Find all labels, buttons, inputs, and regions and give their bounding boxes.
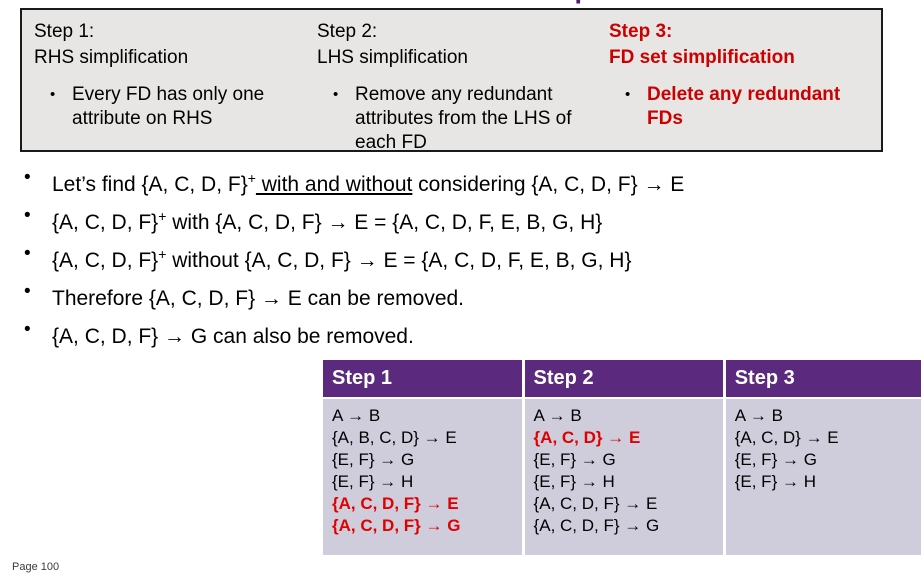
table-header-row: Step 1 Step 2 Step 3 (323, 360, 921, 397)
fd-steps-table: Step 1 Step 2 Step 3 A → B {A, B, C, D} … (320, 358, 924, 557)
fd-line-highlighted: {A, C, D, F} → G (332, 515, 522, 537)
bullet-3-post: without {A, C, D, F} → E = {A, C, D, F, … (166, 249, 631, 272)
step-3-heading-line1: Step 3: (609, 19, 879, 45)
step-1-bullet-text: Every FD has only one attribute on RHS (72, 83, 322, 131)
bullet-1-post: considering {A, C, D, F} → E (412, 173, 684, 196)
bullet-dot-icon: • (333, 83, 355, 155)
bullet-1-sup: + (248, 170, 256, 186)
page-number: Page 100 (12, 561, 59, 573)
bullet-2-text: {A, C, D, F}+ with {A, C, D, F} → E = {A… (52, 201, 602, 238)
fd-line: {A, C, D} → E (735, 427, 921, 449)
list-item: • Let’s find {A, C, D, F}+ with and with… (20, 163, 920, 201)
fd-line-highlighted: {A, C, D} → E (534, 427, 723, 449)
steps-column-1: Step 1: RHS simplification • Every FD ha… (34, 19, 322, 131)
fd-line: A → B (534, 405, 723, 427)
bullet-1-pre: Let’s find {A, C, D, F} (52, 173, 248, 196)
bullet-2-post: with {A, C, D, F} → E = {A, C, D, F, E, … (166, 211, 602, 234)
fd-line: {E, F} → H (534, 471, 723, 493)
fd-line: {A, C, D, F} → G (534, 515, 723, 537)
table-cell-step-3: A → B {A, C, D} → E {E, F} → G {E, F} → … (726, 399, 921, 555)
bullet-1-text: Let’s find {A, C, D, F}+ with and withou… (52, 163, 684, 200)
fd-line: {E, F} → H (332, 471, 522, 493)
step-2-bullet: • Remove any redundant attributes from t… (317, 83, 605, 155)
bullet-dot-icon: • (20, 239, 52, 269)
table-header-step-3: Step 3 (726, 360, 921, 397)
bullet-3-pre: {A, C, D, F} (52, 249, 158, 272)
list-item: • {A, C, D, F} → G can also be removed. (20, 315, 920, 353)
step-2-bullet-text: Remove any redundant attributes from the… (355, 83, 605, 155)
fd-line: {E, F} → G (534, 449, 723, 471)
fd-line: {E, F} → G (332, 449, 522, 471)
fd-line-highlighted: {A, C, D, F} → E (332, 493, 522, 515)
table-cell-step-1: A → B {A, B, C, D} → E {E, F} → G {E, F}… (323, 399, 522, 555)
list-item: • Therefore {A, C, D, F} → E can be remo… (20, 277, 920, 315)
table-header-step-2: Step 2 (525, 360, 723, 397)
slide-title-cutoff: Minimal Cover Example (0, 0, 924, 4)
step-2-heading-line2: LHS simplification (317, 45, 605, 71)
step-1-heading-line2: RHS simplification (34, 45, 322, 71)
bullet-dot-icon: • (50, 83, 72, 131)
fd-line: A → B (735, 405, 921, 427)
table-header-step-1: Step 1 (323, 360, 522, 397)
step-3-bullet: • Delete any redundant FDs (609, 83, 879, 131)
bullet-2-pre: {A, C, D, F} (52, 211, 158, 234)
list-item: • {A, C, D, F}+ with {A, C, D, F} → E = … (20, 201, 920, 239)
bullet-dot-icon: • (20, 315, 52, 345)
bullet-3-text: {A, C, D, F}+ without {A, C, D, F} → E =… (52, 239, 631, 276)
steps-column-3: Step 3: FD set simplification • Delete a… (609, 19, 879, 131)
table-row: A → B {A, B, C, D} → E {E, F} → G {E, F}… (323, 399, 921, 555)
fd-line: {A, C, D, F} → E (534, 493, 723, 515)
fd-line: {A, B, C, D} → E (332, 427, 522, 449)
table-cell-step-2: A → B {A, C, D} → E {E, F} → G {E, F} → … (525, 399, 723, 555)
step-3-bullet-text: Delete any redundant FDs (647, 83, 879, 131)
step-3-heading-line2: FD set simplification (609, 45, 879, 71)
fd-line: {E, F} → G (735, 449, 921, 471)
bullet-list: • Let’s find {A, C, D, F}+ with and with… (20, 163, 920, 353)
bullet-4-text: Therefore {A, C, D, F} → E can be remove… (52, 277, 464, 314)
bullet-dot-icon: • (625, 83, 647, 131)
bullet-dot-icon: • (20, 163, 52, 193)
list-item: • {A, C, D, F}+ without {A, C, D, F} → E… (20, 239, 920, 277)
steps-summary-box: Step 1: RHS simplification • Every FD ha… (20, 8, 883, 152)
bullet-dot-icon: • (20, 277, 52, 307)
bullet-5-text: {A, C, D, F} → G can also be removed. (52, 315, 414, 352)
bullet-4-pre: Therefore {A, C, D, F} → E can be remove… (52, 287, 464, 310)
bullet-dot-icon: • (20, 201, 52, 231)
step-1-bullet: • Every FD has only one attribute on RHS (34, 83, 322, 131)
steps-column-2: Step 2: LHS simplification • Remove any … (317, 19, 605, 155)
step-1-heading-line1: Step 1: (34, 19, 322, 45)
fd-line: A → B (332, 405, 522, 427)
step-2-heading-line1: Step 2: (317, 19, 605, 45)
bullet-1-underlined: with and without (256, 173, 412, 196)
fd-line: {E, F} → H (735, 471, 921, 493)
bullet-5-pre: {A, C, D, F} → G can also be removed. (52, 325, 414, 348)
